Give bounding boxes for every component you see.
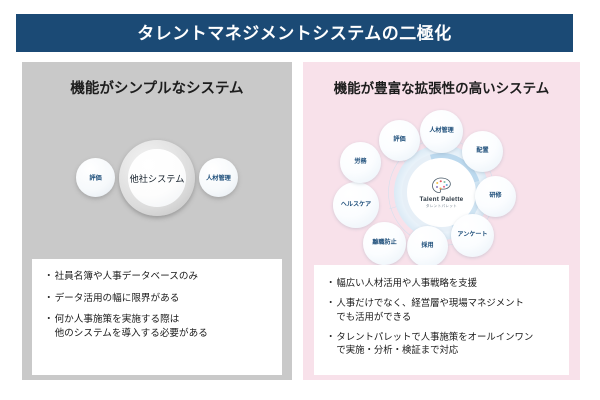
node-label: 離職防止 [372, 240, 396, 246]
right-panel: 機能が豊富な拡張性の高いシステム [303, 62, 580, 380]
list-item: ・ データ活用の幅に限界がある [44, 292, 272, 306]
brand-name-en: Talent Palette [420, 197, 464, 203]
list-item: ・ タレントパレットで人事施策をオールインワン で実施・分析・検証まで対応 [326, 330, 559, 357]
node-evaluation: 評価 [379, 120, 420, 161]
left-center-label: 他社システム [130, 171, 185, 185]
slide-title-bar: タレントマネジメントシステムの二極化 [16, 14, 573, 52]
bullet-marker: ・ [44, 270, 54, 284]
left-panel: 機能がシンプルなシステム 他社システム 評価 人材管理 ・ 社員名簿や人事データ… [22, 62, 292, 380]
node-label: ヘルスケア [341, 202, 371, 208]
bullet-marker: ・ [44, 313, 54, 327]
bullet-text: 社員名簿や人事データベースのみ [55, 270, 198, 284]
slide-title: タレントマネジメントシステムの二極化 [137, 25, 452, 42]
list-item: ・ 社員名簿や人事データベースのみ [44, 270, 272, 284]
bullet-text: 人事だけでなく、経営層や現場マネジメント でも活用ができる [336, 296, 524, 323]
node-training: 研修 [475, 176, 516, 217]
node-label: 研修 [489, 193, 501, 199]
bullet-marker: ・ [326, 276, 335, 289]
slide-canvas: タレントマネジメントシステムの二極化 機能がシンプルなシステム 他社システム 評… [0, 0, 600, 400]
brand-name-jp: タレントパレット [426, 205, 457, 209]
node-healthcare: ヘルスケア [333, 182, 379, 228]
right-bullet-box: ・ 幅広い人材活用や人事戦略を支援 ・ 人事だけでなく、経営層や現場マネジメント… [314, 265, 569, 375]
node-label: 採用 [421, 243, 433, 249]
palette-icon [431, 177, 452, 195]
left-node-label: 人材管理 [206, 173, 231, 182]
node-label: 配置 [476, 148, 488, 154]
list-item: ・ 幅広い人材活用や人事戦略を支援 [326, 276, 559, 289]
bullet-text: 何か人事施策を実施する際は 他のシステムを導入する必要がある [55, 313, 208, 340]
list-item: ・ 何か人事施策を実施する際は 他のシステムを導入する必要がある [44, 313, 272, 340]
node-label: 人材管理 [429, 128, 453, 134]
left-node-evaluation: 評価 [76, 158, 115, 197]
right-panel-heading: 機能が豊富な拡張性の高いシステム [303, 82, 580, 96]
list-item: ・ 人事だけでなく、経営層や現場マネジメント でも活用ができる [326, 296, 559, 323]
bullet-marker: ・ [44, 292, 54, 306]
bullet-text: 幅広い人材活用や人事戦略を支援 [336, 276, 477, 289]
node-placement: 配置 [462, 131, 503, 172]
bullet-text: データ活用の幅に限界がある [55, 292, 180, 306]
node-label: アンケート [457, 232, 487, 238]
left-node-label: 評価 [89, 173, 101, 182]
node-survey: アンケート [451, 214, 494, 257]
node-retention: 離職防止 [363, 222, 406, 265]
bullet-marker: ・ [326, 296, 335, 309]
bullet-text: タレントパレットで人事施策をオールインワン で実施・分析・検証まで対応 [336, 330, 533, 357]
bullet-marker: ・ [326, 330, 335, 343]
left-node-talent-management: 人材管理 [199, 158, 238, 197]
node-label: 労務 [354, 159, 366, 165]
node-talent-management: 人材管理 [420, 110, 463, 153]
left-panel-heading: 機能がシンプルなシステム [22, 82, 292, 97]
node-label: 評価 [393, 137, 405, 143]
node-recruiting: 採用 [407, 226, 448, 267]
left-bullet-box: ・ 社員名簿や人事データベースのみ ・ データ活用の幅に限界がある ・ 何か人事… [32, 259, 282, 375]
left-diagram: 他社システム 評価 人材管理 [22, 120, 292, 230]
right-diagram: Talent Palette タレントパレット 人材管理 配置 研修 アンケート… [303, 104, 580, 269]
node-labor-affairs: 労務 [340, 142, 381, 183]
left-center-circle: 他社システム [128, 149, 186, 207]
